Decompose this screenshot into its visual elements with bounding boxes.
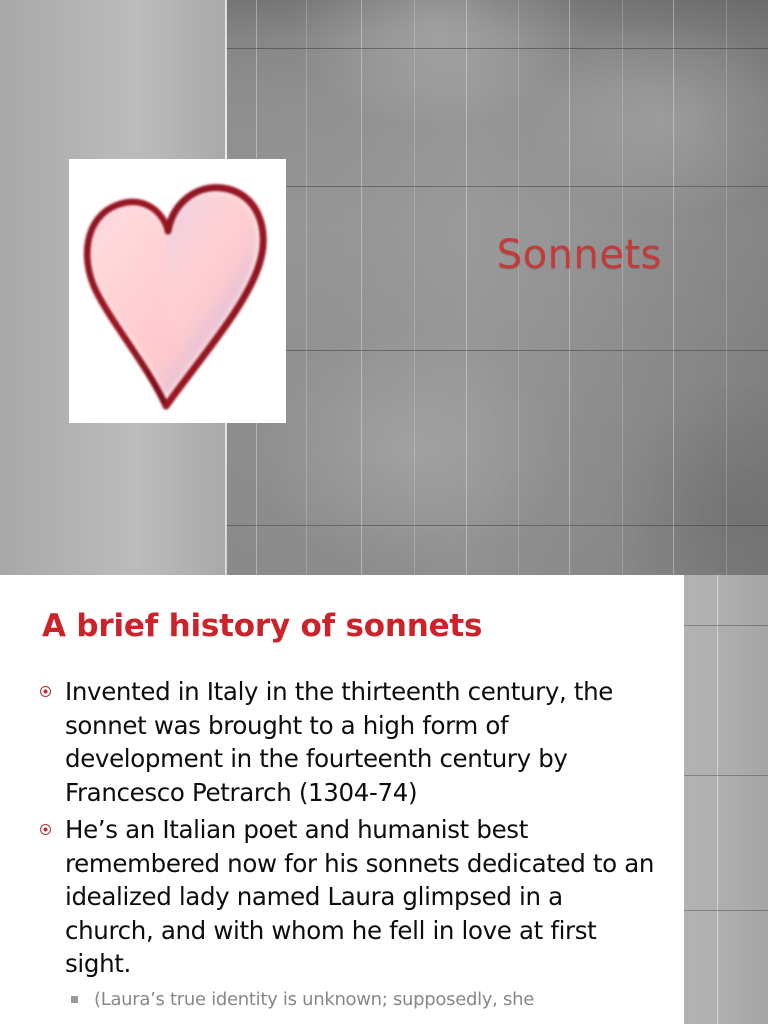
bullet-item: Invented in Italy in the thirteenth cent… <box>38 675 658 809</box>
sub-bullet-item: (Laura’s true identity is unknown; suppo… <box>65 987 658 1012</box>
wall-glow-highlight <box>246 330 566 570</box>
wall-glow-highlight <box>286 0 586 130</box>
tile-gridline-vertical <box>414 0 415 575</box>
tile-gridline-horizontal <box>226 525 768 526</box>
content-slide-side-panel <box>684 575 768 1024</box>
wall-shadow-patch <box>606 380 768 575</box>
target-dot-bullet-icon <box>40 686 51 697</box>
tile-gridline-horizontal <box>684 910 768 911</box>
bullet-text: He’s an Italian poet and humanist best r… <box>65 815 654 978</box>
tile-gridline-vertical <box>622 0 623 575</box>
tile-gridline-horizontal <box>226 350 768 351</box>
tile-gridline-vertical <box>726 0 727 575</box>
bullet-item: He’s an Italian poet and humanist best r… <box>38 813 658 981</box>
wall-glow-highlight <box>526 20 768 220</box>
target-dot-bullet-icon <box>40 824 51 835</box>
title-slide-heading: Sonnets <box>380 232 720 278</box>
tile-gridline-vertical <box>717 575 718 1024</box>
tile-gridline-vertical <box>569 0 570 575</box>
content-slide: A brief history of sonnets Invented in I… <box>0 575 768 1024</box>
tile-gridline-vertical <box>306 0 307 575</box>
tile-gridline-vertical <box>361 0 362 575</box>
tile-gridline-vertical <box>518 0 519 575</box>
square-bullet-icon <box>71 996 78 1003</box>
tile-gridline-horizontal <box>684 625 768 626</box>
tile-gridline-horizontal <box>684 775 768 776</box>
tile-gridline-vertical <box>466 0 467 575</box>
bullet-text: Invented in Italy in the thirteenth cent… <box>65 677 613 807</box>
tile-gridline-vertical <box>673 0 674 575</box>
tile-gridline-horizontal <box>226 186 768 187</box>
pink-heart-drawing <box>69 159 286 423</box>
content-slide-heading: A brief history of sonnets <box>42 608 482 644</box>
tile-gridline-horizontal <box>226 48 768 49</box>
title-slide-tiled-wall <box>226 0 768 575</box>
bullet-list: Invented in Italy in the thirteenth cent… <box>38 675 658 1012</box>
heart-image-card <box>69 159 286 423</box>
title-slide: Sonnets <box>0 0 768 575</box>
sub-bullet-text: (Laura’s true identity is unknown; suppo… <box>94 989 534 1010</box>
